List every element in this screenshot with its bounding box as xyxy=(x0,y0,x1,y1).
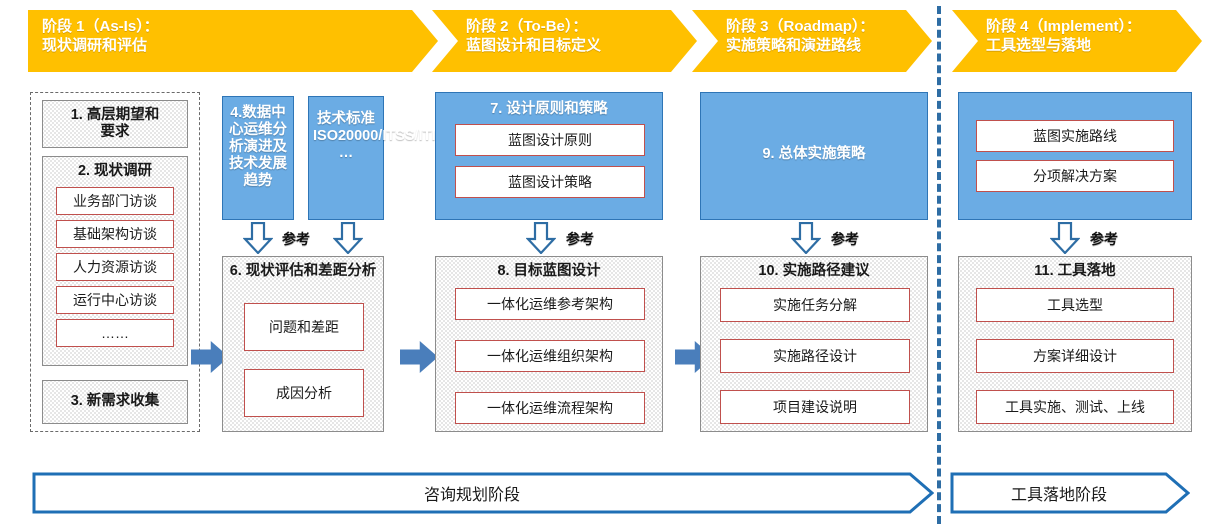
list-item-label: 项目建设说明 xyxy=(773,397,857,417)
phase-2-line2: 蓝图设计和目标定义 xyxy=(466,37,697,56)
reference-arrow-down-icon xyxy=(1050,222,1080,254)
box-new-requirements[interactable]: 3. 新需求收集 xyxy=(42,380,188,424)
box-implementation-path-title: 10. 实施路径建议 xyxy=(701,263,927,280)
flow-arrow-right-icon xyxy=(400,340,438,374)
box-dc-ops-trend-title: 4.数据中心运维分析演进及技术发展趋势 xyxy=(223,105,293,191)
list-item-label: 工具实施、测试、上线 xyxy=(1005,397,1145,417)
box-design-principles-title: 7. 设计原则和策略 xyxy=(436,101,662,118)
list-item-label: 分项解决方案 xyxy=(1033,166,1117,186)
list-item[interactable]: 蓝图实施路线 xyxy=(976,120,1174,152)
box-high-level-expectations[interactable]: 1. 高层期望和 要求 xyxy=(42,100,188,148)
reference-arrow-down-icon xyxy=(333,222,363,254)
footer-consulting-phase-label: 咨询规划阶段 xyxy=(32,472,934,514)
list-item[interactable]: 项目建设说明 xyxy=(720,390,910,424)
list-item-label: 一体化运维参考架构 xyxy=(487,294,613,314)
box-design-principles[interactable]: 7. 设计原则和策略 xyxy=(435,92,663,220)
list-item-label: 一体化运维流程架构 xyxy=(487,398,613,418)
list-item[interactable]: 实施任务分解 xyxy=(720,288,910,322)
phase-banner-4[interactable]: 阶段 4（Implement）： 工具选型与落地 xyxy=(952,10,1202,72)
list-item[interactable]: 问题和差距 xyxy=(244,303,364,351)
footer-tool-landing-phase-label: 工具落地阶段 xyxy=(950,472,1190,514)
list-item[interactable]: 一体化运维组织架构 xyxy=(455,340,645,372)
box-high-level-expectations-title: 1. 高层期望和 要求 xyxy=(43,107,187,140)
phase-3-line2: 实施策略和演进路线 xyxy=(726,37,932,56)
box-current-state-research-title: 2. 现状调研 xyxy=(43,163,187,180)
phase-banner-3[interactable]: 阶段 3（Roadmap）： 实施策略和演进路线 xyxy=(692,10,932,72)
list-item[interactable]: …… xyxy=(56,319,174,347)
box-dc-ops-trend[interactable]: 4.数据中心运维分析演进及技术发展趋势 xyxy=(222,96,294,220)
reference-label: 参考 xyxy=(831,229,859,249)
phase-4-line1: 阶段 4（Implement）： xyxy=(986,18,1141,35)
list-item[interactable]: 基础架构访谈 xyxy=(56,220,174,248)
reference-label: 参考 xyxy=(1090,229,1118,249)
box-tool-landing-title: 11. 工具落地 xyxy=(959,263,1191,280)
phase-banner-1[interactable]: 阶段 1（As-Is）： 现状调研和评估 xyxy=(28,10,438,72)
list-item-label: 运行中心访谈 xyxy=(73,290,157,310)
list-item-label: 人力资源访谈 xyxy=(73,257,157,277)
phase-banner-2[interactable]: 阶段 2（To-Be）： 蓝图设计和目标定义 xyxy=(432,10,697,72)
list-item-label: 问题和差距 xyxy=(269,317,339,337)
box-tech-standards-title: 技术标准ISO20000/ITSS/ITIL… … xyxy=(309,111,383,162)
footer-tool-landing-phase[interactable]: 工具落地阶段 xyxy=(950,472,1190,514)
box-target-blueprint-title: 8. 目标蓝图设计 xyxy=(436,263,662,280)
list-item-label: 基础架构访谈 xyxy=(73,224,157,244)
footer-consulting-phase[interactable]: 咨询规划阶段 xyxy=(32,472,934,514)
list-item-label: …… xyxy=(101,325,129,341)
reference-label: 参考 xyxy=(566,229,594,249)
box-overall-strategy-title: 9. 总体实施策略 xyxy=(701,146,927,163)
reference-label: 参考 xyxy=(282,229,310,249)
list-item-label: 成因分析 xyxy=(276,383,332,403)
list-item-label: 实施路径设计 xyxy=(773,346,857,366)
list-item-label: 方案详细设计 xyxy=(1033,346,1117,366)
list-item-label: 蓝图设计策略 xyxy=(508,172,592,192)
list-item[interactable]: 工具实施、测试、上线 xyxy=(976,390,1174,424)
reference-arrow-down-icon xyxy=(791,222,821,254)
list-item[interactable]: 分项解决方案 xyxy=(976,160,1174,192)
list-item[interactable]: 工具选型 xyxy=(976,288,1174,322)
reference-arrow-down-icon xyxy=(526,222,556,254)
list-item[interactable]: 蓝图设计策略 xyxy=(455,166,645,198)
list-item-label: 业务部门访谈 xyxy=(73,191,157,211)
list-item[interactable]: 业务部门访谈 xyxy=(56,187,174,215)
box-blueprint-rollout[interactable] xyxy=(958,92,1192,220)
list-item[interactable]: 运行中心访谈 xyxy=(56,286,174,314)
phase-2-line1: 阶段 2（To-Be）： xyxy=(466,18,587,35)
list-item-label: 蓝图设计原则 xyxy=(508,130,592,150)
phase-3-line1: 阶段 3（Roadmap）： xyxy=(726,18,874,35)
list-item-label: 实施任务分解 xyxy=(773,295,857,315)
list-item[interactable]: 人力资源访谈 xyxy=(56,253,174,281)
phase-1-line2: 现状调研和评估 xyxy=(42,37,438,56)
list-item[interactable]: 一体化运维流程架构 xyxy=(455,392,645,424)
list-item-label: 蓝图实施路线 xyxy=(1033,126,1117,146)
box-overall-strategy[interactable]: 9. 总体实施策略 xyxy=(700,92,928,220)
box-gap-analysis-title: 6. 现状评估和差距分析 xyxy=(223,263,383,280)
phase-divider xyxy=(937,6,941,524)
diagram-canvas: 阶段 1（As-Is）： 现状调研和评估 阶段 2（To-Be）： 蓝图设计和目… xyxy=(0,0,1217,530)
list-item[interactable]: 成因分析 xyxy=(244,369,364,417)
phase-4-line2: 工具选型与落地 xyxy=(986,37,1202,56)
reference-arrow-down-icon xyxy=(243,222,273,254)
list-item[interactable]: 实施路径设计 xyxy=(720,339,910,373)
list-item[interactable]: 方案详细设计 xyxy=(976,339,1174,373)
phase-1-line1: 阶段 1（As-Is）： xyxy=(42,18,159,35)
list-item-label: 工具选型 xyxy=(1047,295,1103,315)
list-item[interactable]: 蓝图设计原则 xyxy=(455,124,645,156)
box-tech-standards[interactable]: 技术标准ISO20000/ITSS/ITIL… … xyxy=(308,96,384,220)
box-new-requirements-title: 3. 新需求收集 xyxy=(43,393,187,410)
list-item-label: 一体化运维组织架构 xyxy=(487,346,613,366)
list-item[interactable]: 一体化运维参考架构 xyxy=(455,288,645,320)
